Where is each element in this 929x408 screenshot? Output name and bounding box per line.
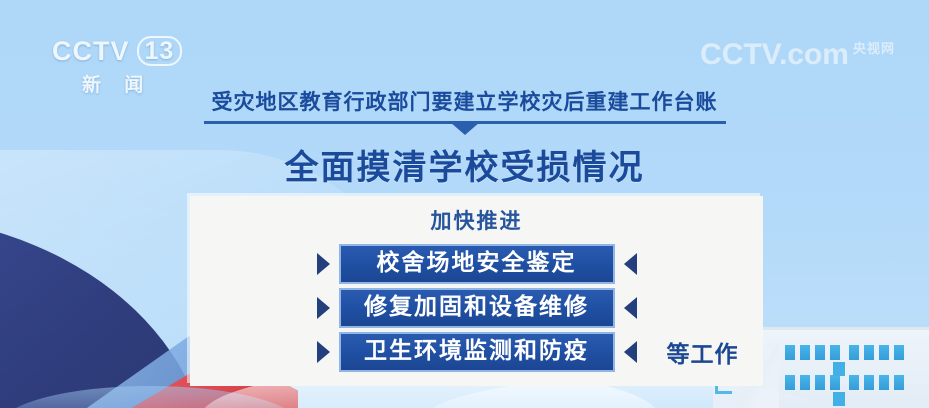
left-triangle-icon [624,341,637,363]
panel-heading: 加快推进 [190,205,763,235]
cctv-com-watermark: CCTV.com 央视网 [700,40,895,70]
right-triangle-icon [317,297,330,319]
news-graphic-screen: CCTV 13 新 闻 CCTV.com 央视网 受灾地区教育行政部门要建立学校… [0,0,929,408]
main-title: 全面摸清学校受损情况 [0,140,929,189]
list-item: 校舍场地安全鉴定 [190,242,763,286]
cctv-channel-number: 13 [137,36,183,66]
headline-container: 受灾地区教育行政部门要建立学校灾后重建工作台账 [0,86,929,124]
background-navy-blob [0,215,210,408]
right-triangle-icon [317,253,330,275]
item-label-3: 卫生环境监测和防疫 [339,332,615,373]
panel-item-list: 校舍场地安全鉴定 修复加固和设备维修 卫生环境监测和防疫 等工作 [190,242,763,374]
watermark-cn-text: 央视网 [853,42,895,55]
headline-arrow-container [0,122,929,135]
down-triangle-icon [450,122,480,135]
item-suffix-text: 等工作 [667,335,739,369]
left-triangle-icon [624,297,637,319]
content-panel: 加快推进 校舍场地安全鉴定 修复加固和设备维修 卫生环境监测和防疫 等工作 [190,196,763,386]
cctv-logo-text: CCTV [52,38,130,65]
item-label-2: 修复加固和设备维修 [339,288,615,329]
list-item: 卫生环境监测和防疫 等工作 [190,330,763,374]
watermark-main-text: CCTV.com [700,40,849,70]
list-item: 修复加固和设备维修 [190,286,763,330]
headline-text: 受灾地区教育行政部门要建立学校灾后重建工作台账 [204,86,726,124]
background-wave-left [0,386,300,408]
right-triangle-icon [317,341,330,363]
item-label-1: 校舍场地安全鉴定 [339,244,615,285]
left-triangle-icon [624,253,637,275]
